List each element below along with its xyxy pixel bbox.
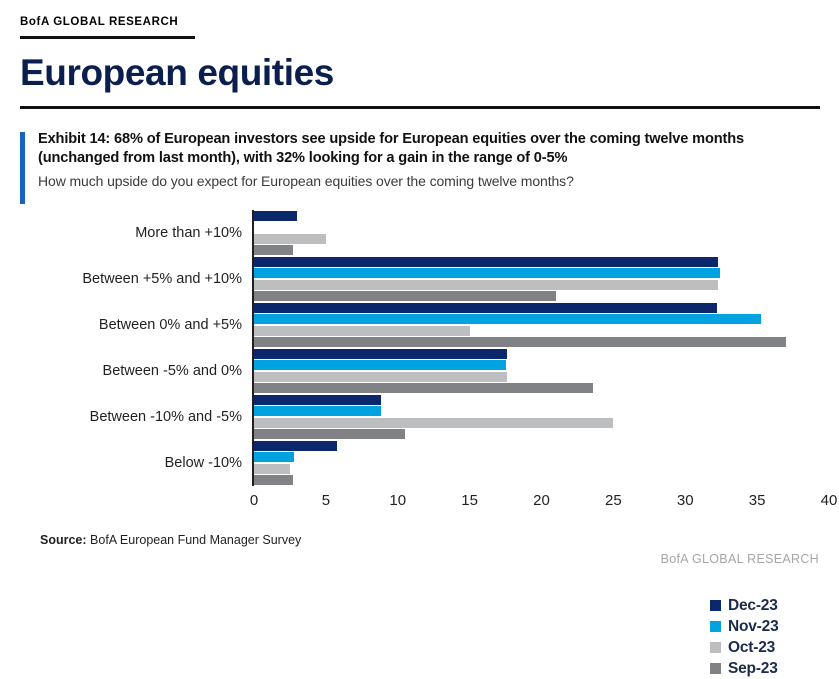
bar-group: Below -10% bbox=[252, 440, 808, 486]
bar-nov-23 bbox=[254, 406, 381, 416]
bar-dec-23 bbox=[254, 441, 337, 451]
bar-oct-23 bbox=[254, 464, 290, 474]
x-tick-label: 10 bbox=[389, 492, 406, 509]
x-tick-label: 0 bbox=[250, 492, 258, 509]
bar-sep-23 bbox=[254, 337, 786, 347]
title-rule bbox=[20, 106, 820, 109]
bar-oct-23 bbox=[254, 280, 718, 290]
bar-nov-23 bbox=[254, 360, 506, 370]
brand-rule bbox=[20, 36, 195, 39]
bar-oct-23 bbox=[254, 418, 613, 428]
bar-dec-23 bbox=[254, 303, 717, 313]
bar-group: Between 0% and +5% bbox=[252, 302, 808, 348]
bar-oct-23 bbox=[254, 372, 507, 382]
bar-oct-23 bbox=[254, 234, 326, 244]
legend-label: Oct-23 bbox=[728, 639, 775, 657]
page-title: European equities bbox=[20, 54, 334, 91]
legend-swatch-icon bbox=[710, 600, 721, 611]
bar-nov-23 bbox=[254, 452, 294, 462]
bar-sep-23 bbox=[254, 383, 593, 393]
category-label: Between +5% and +10% bbox=[82, 272, 242, 287]
x-tick-label: 20 bbox=[533, 492, 550, 509]
bar-sep-23 bbox=[254, 245, 293, 255]
bar-dec-23 bbox=[254, 395, 381, 405]
legend-item-dec-23[interactable]: Dec-23 bbox=[710, 595, 778, 616]
category-label: Below -10% bbox=[165, 456, 242, 471]
source-text: BofA European Fund Manager Survey bbox=[90, 533, 301, 547]
bar-group: More than +10% bbox=[252, 210, 808, 256]
bar-group: Between -10% and -5% bbox=[252, 394, 808, 440]
category-label: Between 0% and +5% bbox=[99, 318, 242, 333]
category-label: Between -5% and 0% bbox=[103, 364, 242, 379]
bar-group: Between +5% and +10% bbox=[252, 256, 808, 302]
bar-group: Between -5% and 0% bbox=[252, 348, 808, 394]
exhibit-headline: Exhibit 14: 68% of European investors se… bbox=[38, 130, 820, 169]
bar-dec-23 bbox=[254, 211, 297, 221]
legend-label: Dec-23 bbox=[728, 597, 778, 615]
legend-label: Nov-23 bbox=[728, 618, 778, 636]
legend-item-sep-23[interactable]: Sep-23 bbox=[710, 658, 778, 679]
legend-label: Sep-23 bbox=[728, 660, 778, 678]
legend-swatch-icon bbox=[710, 642, 721, 653]
bar-sep-23 bbox=[254, 475, 293, 485]
legend-item-oct-23[interactable]: Oct-23 bbox=[710, 637, 778, 658]
x-axis: 0510152025303540 bbox=[252, 486, 808, 512]
source-label: Source: bbox=[40, 533, 87, 547]
bar-oct-23 bbox=[254, 326, 470, 336]
x-tick-label: 15 bbox=[461, 492, 478, 509]
footer-brand: BofA GLOBAL RESEARCH bbox=[661, 552, 819, 566]
legend-item-nov-23[interactable]: Nov-23 bbox=[710, 616, 778, 637]
bar-nov-23 bbox=[254, 268, 720, 278]
x-tick-label: 25 bbox=[605, 492, 622, 509]
bar-nov-23 bbox=[254, 314, 761, 324]
x-tick-label: 40 bbox=[821, 492, 838, 509]
x-tick-label: 5 bbox=[322, 492, 330, 509]
exhibit-subtitle: How much upside do you expect for Europe… bbox=[38, 172, 820, 190]
legend-swatch-icon bbox=[710, 663, 721, 674]
bar-chart: More than +10%Between +5% and +10%Betwee… bbox=[20, 210, 820, 510]
bar-sep-23 bbox=[254, 429, 405, 439]
source-note: Source: BofA European Fund Manager Surve… bbox=[40, 533, 301, 547]
legend-swatch-icon bbox=[710, 621, 721, 632]
x-tick-label: 30 bbox=[677, 492, 694, 509]
bar-dec-23 bbox=[254, 257, 718, 267]
brand-header: BofA GLOBAL RESEARCH bbox=[20, 16, 200, 28]
bar-sep-23 bbox=[254, 291, 556, 301]
x-tick-label: 35 bbox=[749, 492, 766, 509]
plot-area: More than +10%Between +5% and +10%Betwee… bbox=[252, 210, 808, 486]
category-label: More than +10% bbox=[135, 226, 242, 241]
chart-legend: Dec-23Nov-23Oct-23Sep-23 bbox=[710, 595, 778, 679]
category-label: Between -10% and -5% bbox=[90, 410, 242, 425]
exhibit-accent-bar bbox=[20, 132, 25, 204]
bar-dec-23 bbox=[254, 349, 507, 359]
exhibit-block: Exhibit 14: 68% of European investors se… bbox=[20, 130, 820, 190]
